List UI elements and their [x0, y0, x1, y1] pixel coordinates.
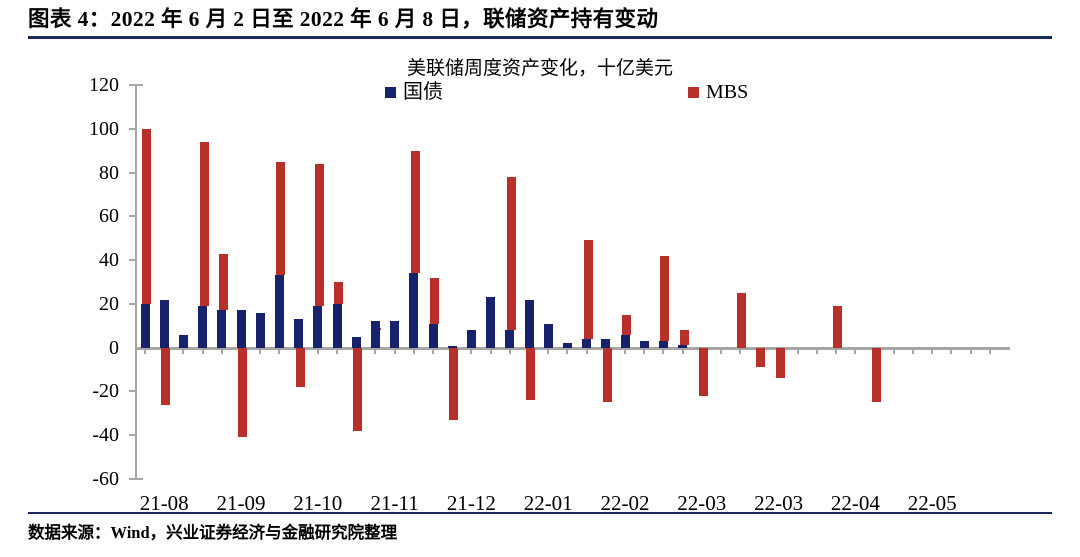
page-title: 图表 4：2022 年 6 月 2 日至 2022 年 6 月 8 日，联储资产…	[28, 4, 1052, 34]
bar-mbs	[622, 315, 631, 335]
y-tick-label: 80	[55, 163, 119, 183]
y-tick-label: -40	[55, 425, 119, 445]
bar-treasury	[179, 335, 188, 348]
bar-treasury	[525, 300, 534, 348]
figure-page: 图表 4：2022 年 6 月 2 日至 2022 年 6 月 8 日，联储资产…	[0, 0, 1080, 557]
bar-treasury	[160, 300, 169, 348]
bar-treasury	[217, 310, 226, 347]
bar-treasury	[237, 310, 246, 347]
bar-treasury	[448, 346, 457, 348]
bar-treasury	[486, 297, 495, 347]
plot-area: 120100806040200-20-40-60	[135, 85, 1010, 479]
bar-mbs	[296, 348, 305, 387]
bar-mbs	[449, 348, 458, 420]
header-divider	[28, 36, 1052, 39]
bar-treasury	[659, 341, 668, 348]
bar-treasury	[544, 324, 553, 348]
bar-mbs	[699, 348, 708, 396]
bar-treasury	[294, 319, 303, 347]
bar-series-group	[135, 85, 1010, 479]
bar-treasury	[256, 313, 265, 348]
bar-mbs	[872, 348, 881, 403]
chart-title: 美联储周度资产变化，十亿美元	[0, 53, 1080, 80]
x-tick-label: 22-05	[887, 493, 977, 514]
footer-divider	[28, 512, 1052, 514]
bar-treasury	[198, 306, 207, 348]
y-tick-label: 0	[55, 338, 119, 358]
figure-header: 图表 4：2022 年 6 月 2 日至 2022 年 6 月 8 日，联储资产…	[28, 4, 1052, 44]
bar-mbs	[142, 129, 151, 304]
bar-mbs	[526, 348, 535, 401]
bar-mbs	[238, 348, 247, 438]
bar-treasury	[275, 275, 284, 347]
bar-treasury	[141, 304, 150, 348]
y-tick-label: 20	[55, 294, 119, 314]
bar-treasury	[352, 337, 361, 348]
bar-mbs	[315, 164, 324, 306]
y-tick-label: -20	[55, 381, 119, 401]
bar-mbs	[603, 348, 612, 403]
bar-treasury	[467, 330, 476, 348]
bar-mbs	[776, 348, 785, 379]
y-tick-label: 100	[55, 119, 119, 139]
y-tick-label: 40	[55, 250, 119, 270]
y-tick-label: 120	[55, 75, 119, 95]
chart-container: 美联储周度资产变化，十亿美元 国债 MBS 120100806040200-20…	[0, 44, 1080, 512]
y-tick-label: 60	[55, 206, 119, 226]
bar-mbs	[219, 254, 228, 311]
bar-mbs	[756, 348, 765, 368]
bar-treasury	[313, 306, 322, 348]
bar-treasury	[678, 345, 687, 347]
bar-treasury	[582, 339, 591, 348]
bar-treasury	[409, 273, 418, 347]
bar-mbs	[200, 142, 209, 306]
bar-treasury	[333, 304, 342, 348]
bar-mbs	[680, 330, 689, 345]
bar-treasury	[640, 341, 649, 348]
bar-mbs	[411, 151, 420, 274]
source-note: 数据来源：Wind，兴业证券经济与金融研究院整理	[28, 519, 397, 543]
bar-mbs	[833, 306, 842, 348]
bar-treasury	[429, 324, 438, 348]
bar-mbs	[430, 278, 439, 324]
bar-mbs	[276, 162, 285, 276]
bar-mbs	[161, 348, 170, 405]
bar-treasury	[621, 335, 630, 348]
bar-mbs	[334, 282, 343, 304]
bar-mbs	[507, 177, 516, 330]
y-tick-label: -60	[55, 469, 119, 489]
bar-mbs	[584, 240, 593, 339]
bar-mbs	[737, 293, 746, 348]
bar-treasury	[371, 321, 380, 347]
bar-mbs	[660, 256, 669, 341]
bar-mbs	[353, 348, 362, 431]
bar-treasury	[505, 330, 514, 348]
bar-treasury	[563, 343, 572, 347]
bar-treasury	[601, 339, 610, 348]
bar-treasury	[390, 321, 399, 347]
